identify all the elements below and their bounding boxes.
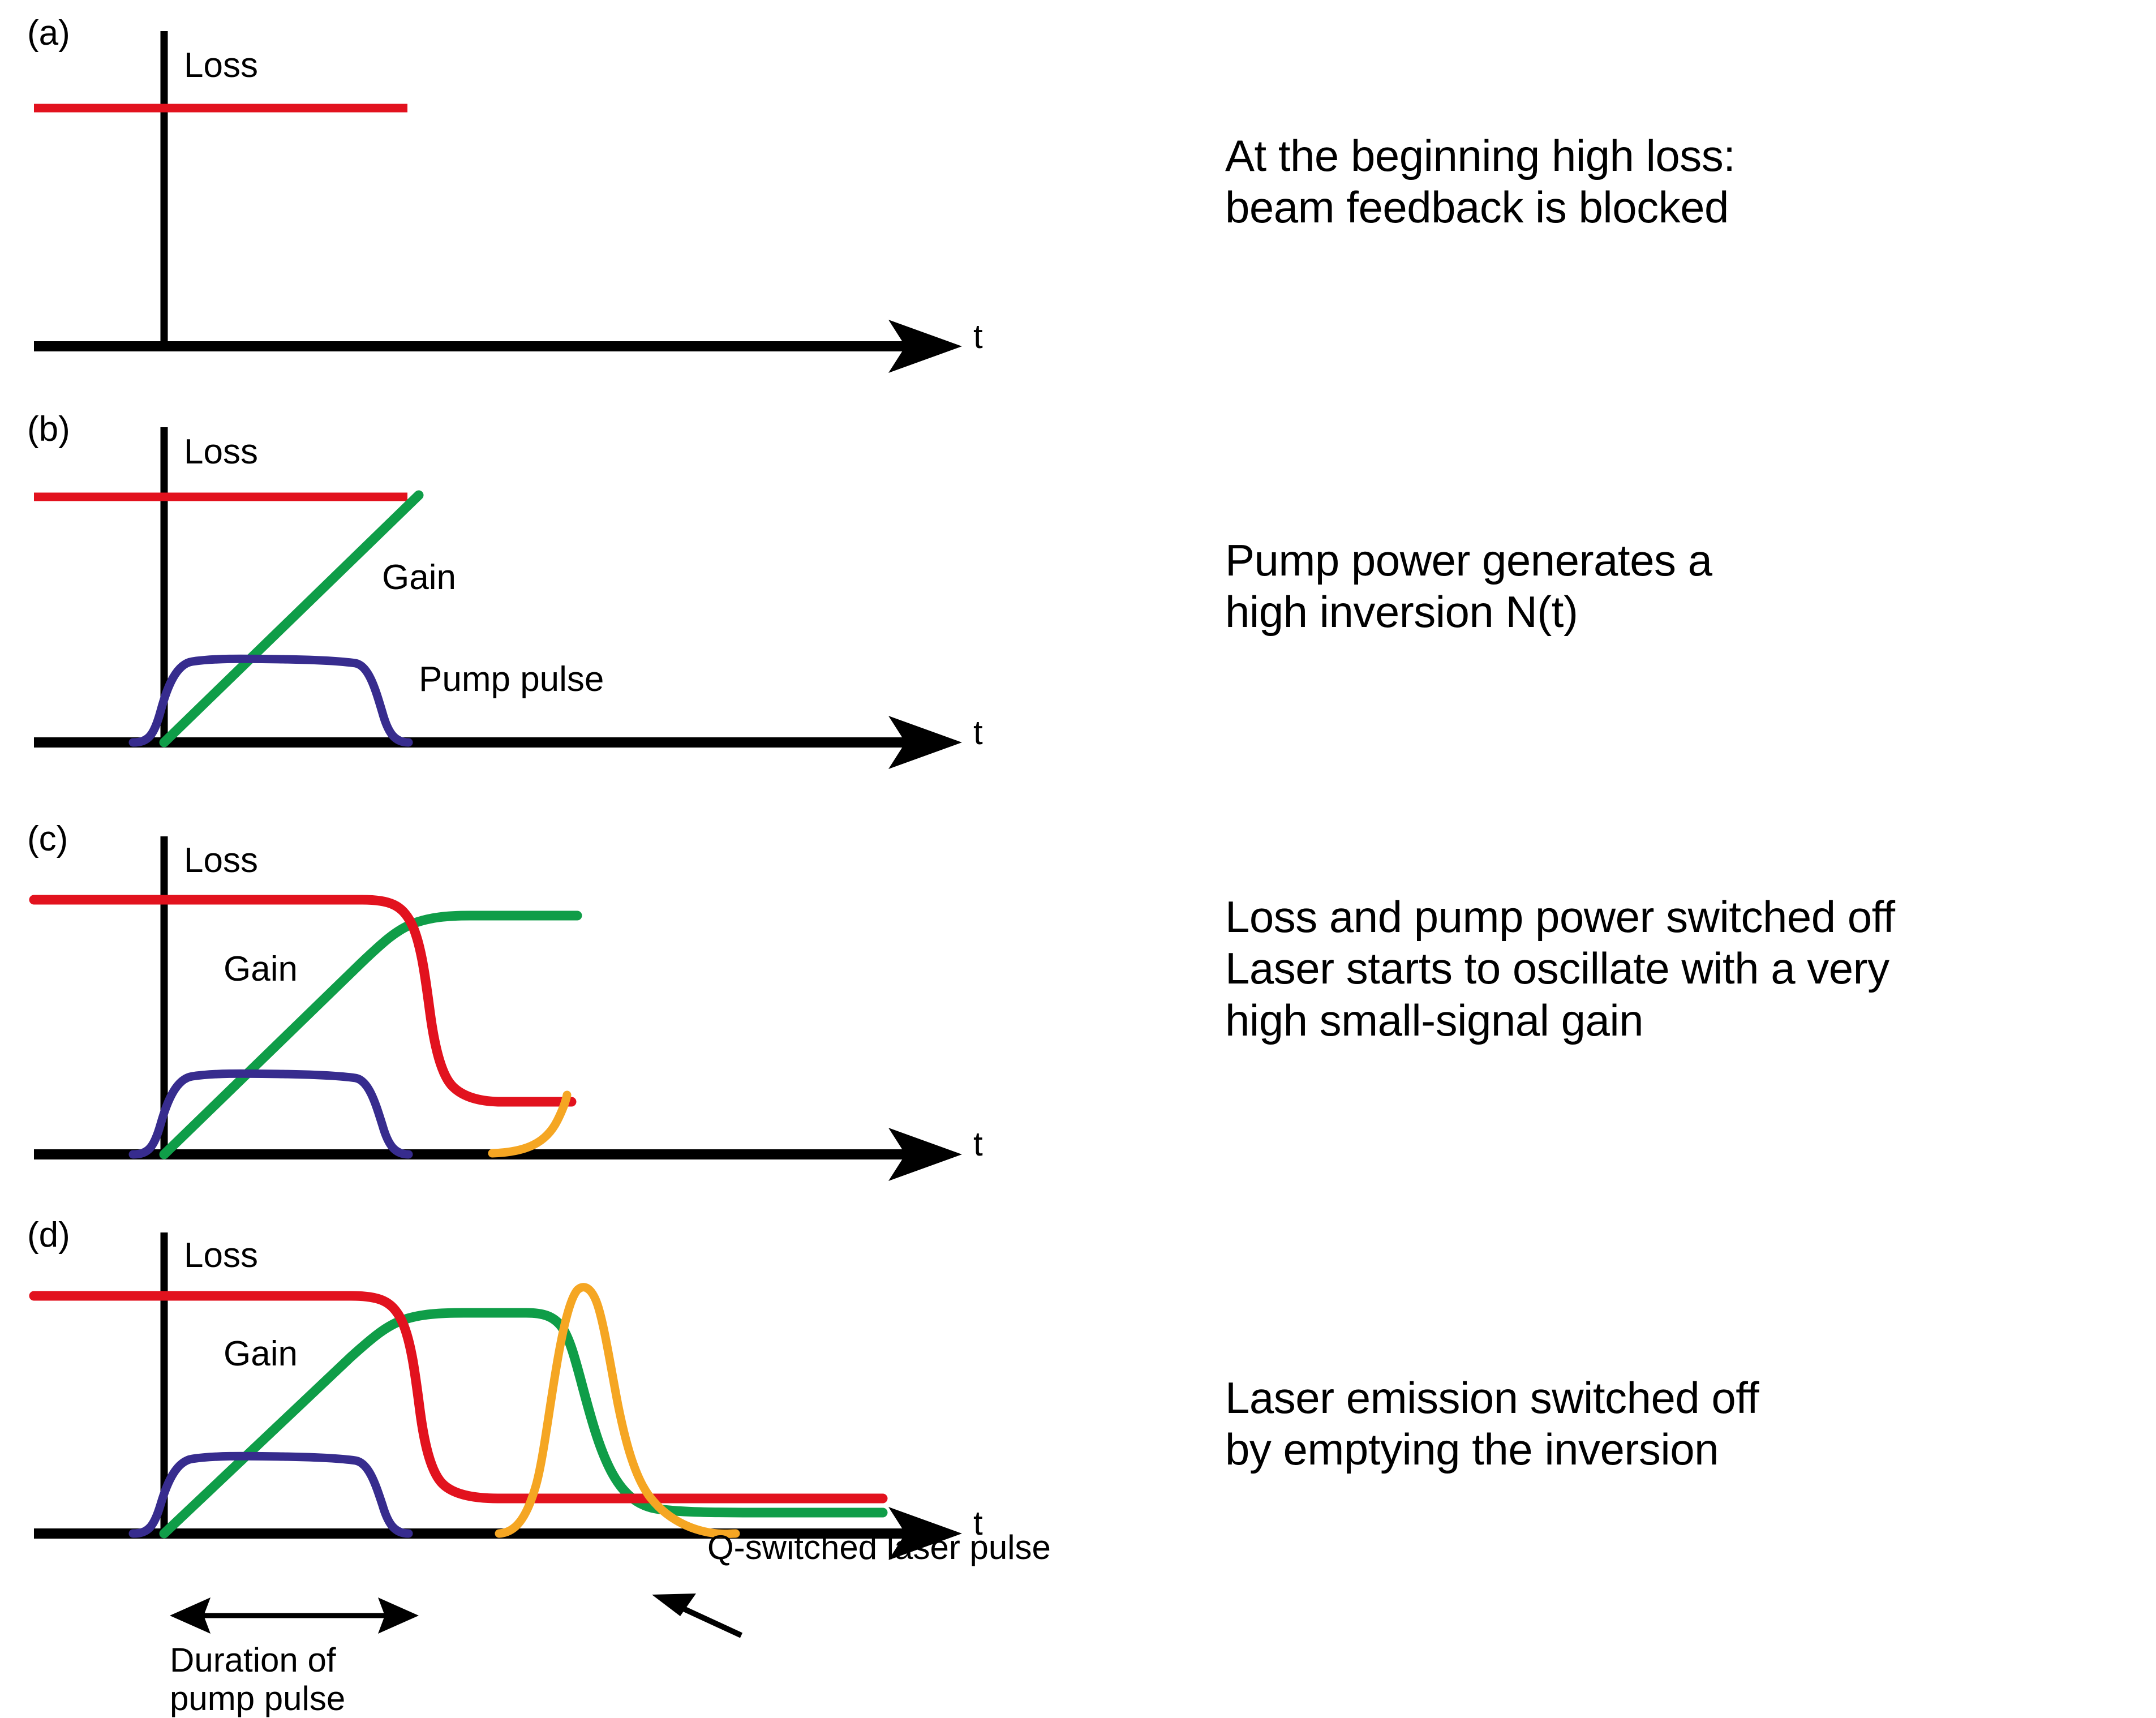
panel-b: (b) Loss Gain Pump pulse t	[0, 396, 1019, 770]
annotation-d: Laser emission switched off by emptying …	[1225, 1372, 2131, 1476]
loss-label-a: Loss	[184, 48, 258, 83]
time-axis-label-b: t	[973, 716, 983, 750]
time-axis-label-d: t	[973, 1506, 983, 1540]
annotation-a: At the beginning high loss: beam feedbac…	[1225, 130, 2131, 234]
panel-label-a: (a)	[27, 16, 70, 51]
time-axis-label-a: t	[973, 320, 983, 354]
pump-pulse-label-b: Pump pulse	[419, 662, 604, 697]
panel-label-c: (c)	[27, 822, 68, 857]
gain-label-c: Gain	[224, 952, 298, 987]
gain-label-b: Gain	[382, 560, 456, 595]
panel-d-plot	[0, 1205, 1188, 1703]
panel-d: (d) Loss Gain Q-switched laser pulse t D…	[0, 1205, 1188, 1703]
time-axis-label-c: t	[973, 1127, 983, 1161]
gain-label-d: Gain	[224, 1337, 298, 1372]
q-switching-figure: (a) Loss t (b) Loss Gain Pump pulse t	[0, 0, 2156, 1705]
panel-c: (c) Loss Gain t	[0, 809, 1019, 1194]
panel-a-plot	[0, 0, 1019, 373]
panel-label-d: (d)	[27, 1218, 70, 1253]
duration-of-pump-pulse-label: Duration of pump pulse	[170, 1641, 345, 1718]
panel-a: (a) Loss t	[0, 0, 1019, 373]
panel-c-plot	[0, 809, 1019, 1194]
loss-label-c: Loss	[184, 843, 258, 878]
annotation-b: Pump power generates a high inversion N(…	[1225, 535, 2131, 638]
panel-b-plot	[0, 396, 1019, 770]
annotation-c: Loss and pump power switched off Laser s…	[1225, 891, 2153, 1046]
loss-label-b: Loss	[184, 435, 258, 470]
qswitched-pulse-label-d: Q-switched laser pulse	[707, 1531, 1051, 1565]
loss-label-d: Loss	[184, 1238, 258, 1273]
panel-label-b: (b)	[27, 412, 70, 447]
